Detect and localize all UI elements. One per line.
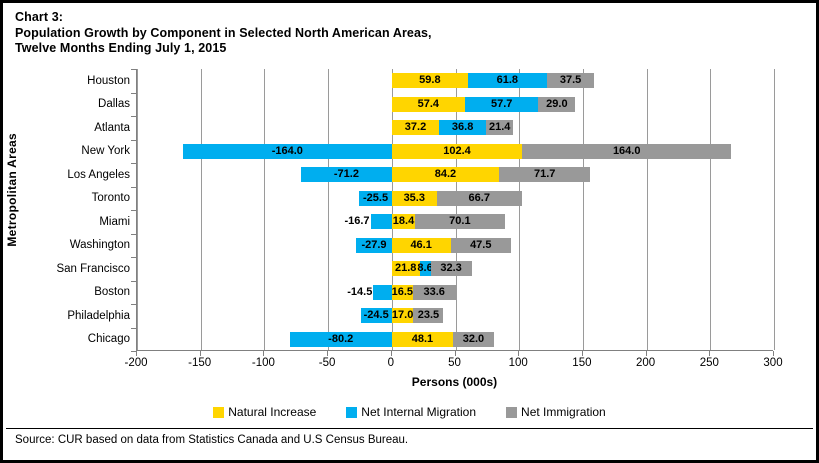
x-axis-label-300: 300 [763,357,782,369]
legend-item-net-internal-migration[interactable]: Net Internal Migration [346,405,476,419]
x-axis-label-50: 50 [448,357,461,369]
legend-label: Natural Increase [228,405,316,419]
x-axis-tickmark [136,351,137,356]
bar-value-label: 21.4 [486,120,513,135]
x-axis-tickmark [455,351,456,356]
bar-value-label: 32.3 [431,261,472,276]
bar-value-label: 70.1 [415,214,504,229]
bar-group: -27.946.147.5 [137,234,773,258]
bar-value-label: 17.0 [392,308,414,323]
chart-title-line-2: Population Growth by Component in Select… [15,26,715,42]
bar-value-label: -80.2 [290,332,392,347]
bar-value-label: 32.0 [453,332,494,347]
bar-segment-natural-increase: 35.3 [392,191,437,206]
x-axis-label-250: 250 [700,357,719,369]
bar-group: -24.517.023.5 [137,304,773,328]
bar-segment-net-internal-migration: -71.2 [301,167,392,182]
x-axis-tickmark [646,351,647,356]
bar-value-label: 102.4 [392,144,522,159]
bar-segment-net-internal-migration: -164.0 [183,144,392,159]
bar-segment-net-immigration: 33.6 [413,285,456,300]
bar-segment-net-internal-migration: -16.7 [371,214,392,229]
bar-value-label: -24.5 [361,308,392,323]
legend-item-net-immigration[interactable]: Net Immigration [506,405,606,419]
bar-value-label: 23.5 [413,308,443,323]
bar-segment-net-immigration: 37.5 [547,73,595,88]
bar-value-label: 37.5 [547,73,595,88]
bar-segment-net-immigration: 21.4 [486,120,513,135]
bar-group: 57.457.729.0 [137,93,773,117]
bar-segment-natural-increase: 48.1 [392,332,453,347]
bar-segment-natural-increase: 17.0 [392,308,414,323]
y-axis-label-washington: Washington [70,234,130,258]
y-axis-label-los-angeles: Los Angeles [67,163,130,187]
y-axis-label-san-francisco: San Francisco [56,257,130,281]
bar-value-label: -27.9 [356,238,392,253]
y-axis-label-dallas: Dallas [98,93,130,117]
legend-label: Net Immigration [521,405,606,419]
bar-value-label: -25.5 [359,191,391,206]
bar-segment-net-immigration: 164.0 [522,144,731,159]
y-axis-label-philadelphia: Philadelphia [67,304,130,328]
bar-segment-net-immigration: 29.0 [538,97,575,112]
chart-legend: Natural IncreaseNet Internal MigrationNe… [3,402,816,422]
x-axis-tickmark [200,351,201,356]
bar-segment-net-internal-migration: -25.5 [359,191,391,206]
bar-segment-net-internal-migration: -14.5 [373,285,391,300]
bar-group: -14.516.533.6 [137,281,773,305]
y-axis-label-houston: Houston [87,69,130,93]
bar-segment-net-immigration: 47.5 [451,238,512,253]
plot-area: 59.861.837.557.457.729.037.236.821.4-164… [136,69,773,351]
bar-segment-net-immigration: 32.3 [431,261,472,276]
bar-group: 21.88.632.3 [137,257,773,281]
bar-segment-natural-increase: 21.8 [392,261,420,276]
bar-group: -71.284.271.7 [137,163,773,187]
bar-value-label: 21.8 [392,261,420,276]
y-axis-label-boston: Boston [94,281,130,305]
y-axis-label-miami: Miami [99,210,130,234]
bar-segment-net-internal-migration: 61.8 [468,73,547,88]
bar-value-label: -16.7 [344,214,370,229]
bar-value-label: 59.8 [392,73,468,88]
bar-value-label: 37.2 [392,120,439,135]
bar-value-label: -164.0 [183,144,392,159]
bar-value-label: 33.6 [413,285,456,300]
bar-value-label: 16.5 [392,285,413,300]
bar-value-label: 84.2 [392,167,499,182]
bar-value-label: 8.6 [420,261,431,276]
bar-segment-net-immigration: 70.1 [415,214,504,229]
bar-segment-net-internal-migration: -27.9 [356,238,392,253]
bar-group: -25.535.366.7 [137,187,773,211]
bar-segment-natural-increase: 57.4 [392,97,465,112]
bar-value-label: 57.7 [465,97,539,112]
bar-value-label: 47.5 [451,238,512,253]
bar-value-label: 35.3 [392,191,437,206]
x-axis-label-100: 100 [509,357,528,369]
bar-value-label: 71.7 [499,167,590,182]
x-axis-label--150: -150 [188,357,211,369]
bar-segment-net-internal-migration: -24.5 [361,308,392,323]
gridline-300 [774,69,775,350]
legend-item-natural-increase[interactable]: Natural Increase [213,405,316,419]
bar-segment-net-immigration: 66.7 [437,191,522,206]
y-axis-label-atlanta: Atlanta [94,116,130,140]
x-axis-label--50: -50 [319,357,336,369]
bar-value-label: 36.8 [439,120,486,135]
x-axis-label--100: -100 [252,357,275,369]
bar-group: -16.718.470.1 [137,210,773,234]
y-axis-tick-labels: HoustonDallasAtlantaNew YorkLos AngelesT… [3,69,136,351]
bar-segment-net-internal-migration: -80.2 [290,332,392,347]
bar-group: 59.861.837.5 [137,69,773,93]
bar-segment-natural-increase: 102.4 [392,144,522,159]
bar-segment-net-immigration: 32.0 [453,332,494,347]
chart-title-line-1: Chart 3: [15,10,715,26]
x-axis-tickmark [263,351,264,356]
x-axis-label--200: -200 [124,357,147,369]
x-axis-label-200: 200 [636,357,655,369]
x-axis-title: Persons (000s) [136,375,773,389]
bar-segment-natural-increase: 37.2 [392,120,439,135]
bar-value-label: 48.1 [392,332,453,347]
x-axis: -200-150-100-50050100150200250300 [136,351,773,373]
bar-value-label: 61.8 [468,73,547,88]
bar-value-label: 18.4 [392,214,415,229]
legend-label: Net Internal Migration [361,405,476,419]
chart-figure: Chart 3: Population Growth by Component … [0,0,819,463]
bar-segment-net-immigration: 71.7 [499,167,590,182]
x-axis-label-150: 150 [572,357,591,369]
x-axis-tickmark [327,351,328,356]
bar-segment-natural-increase: 18.4 [392,214,415,229]
legend-swatch-icon [213,407,224,418]
source-divider [6,428,813,429]
chart-title: Chart 3: Population Growth by Component … [15,10,715,57]
y-axis-label-toronto: Toronto [92,187,130,211]
bar-segment-natural-increase: 84.2 [392,167,499,182]
x-axis-tickmark [518,351,519,356]
bar-group: -164.0102.4164.0 [137,140,773,164]
bar-value-label: 164.0 [522,144,731,159]
bar-value-label: 57.4 [392,97,465,112]
bar-segment-natural-increase: 46.1 [392,238,451,253]
x-axis-tickmark [773,351,774,356]
y-axis-label-chicago: Chicago [88,328,130,352]
bar-segment-net-internal-migration: 36.8 [439,120,486,135]
bar-value-label: 66.7 [437,191,522,206]
bar-group: -80.248.132.0 [137,328,773,352]
legend-swatch-icon [346,407,357,418]
x-axis-tickmark [391,351,392,356]
bar-value-label: 29.0 [538,97,575,112]
x-axis-tickmark [582,351,583,356]
bar-value-label: -71.2 [301,167,392,182]
bar-segment-net-internal-migration: 57.7 [465,97,539,112]
x-axis-tickmark [709,351,710,356]
x-axis-label-0: 0 [388,357,394,369]
source-note: Source: CUR based on data from Statistic… [15,434,408,446]
bar-value-label: -14.5 [347,285,373,300]
bar-segment-natural-increase: 59.8 [392,73,468,88]
bar-segment-natural-increase: 16.5 [392,285,413,300]
bar-segment-net-immigration: 23.5 [413,308,443,323]
legend-swatch-icon [506,407,517,418]
chart-title-line-3: Twelve Months Ending July 1, 2015 [15,41,715,57]
y-axis-label-new-york: New York [81,140,130,164]
bar-segment-net-internal-migration: 8.6 [420,261,431,276]
bar-group: 37.236.821.4 [137,116,773,140]
bar-value-label: 46.1 [392,238,451,253]
